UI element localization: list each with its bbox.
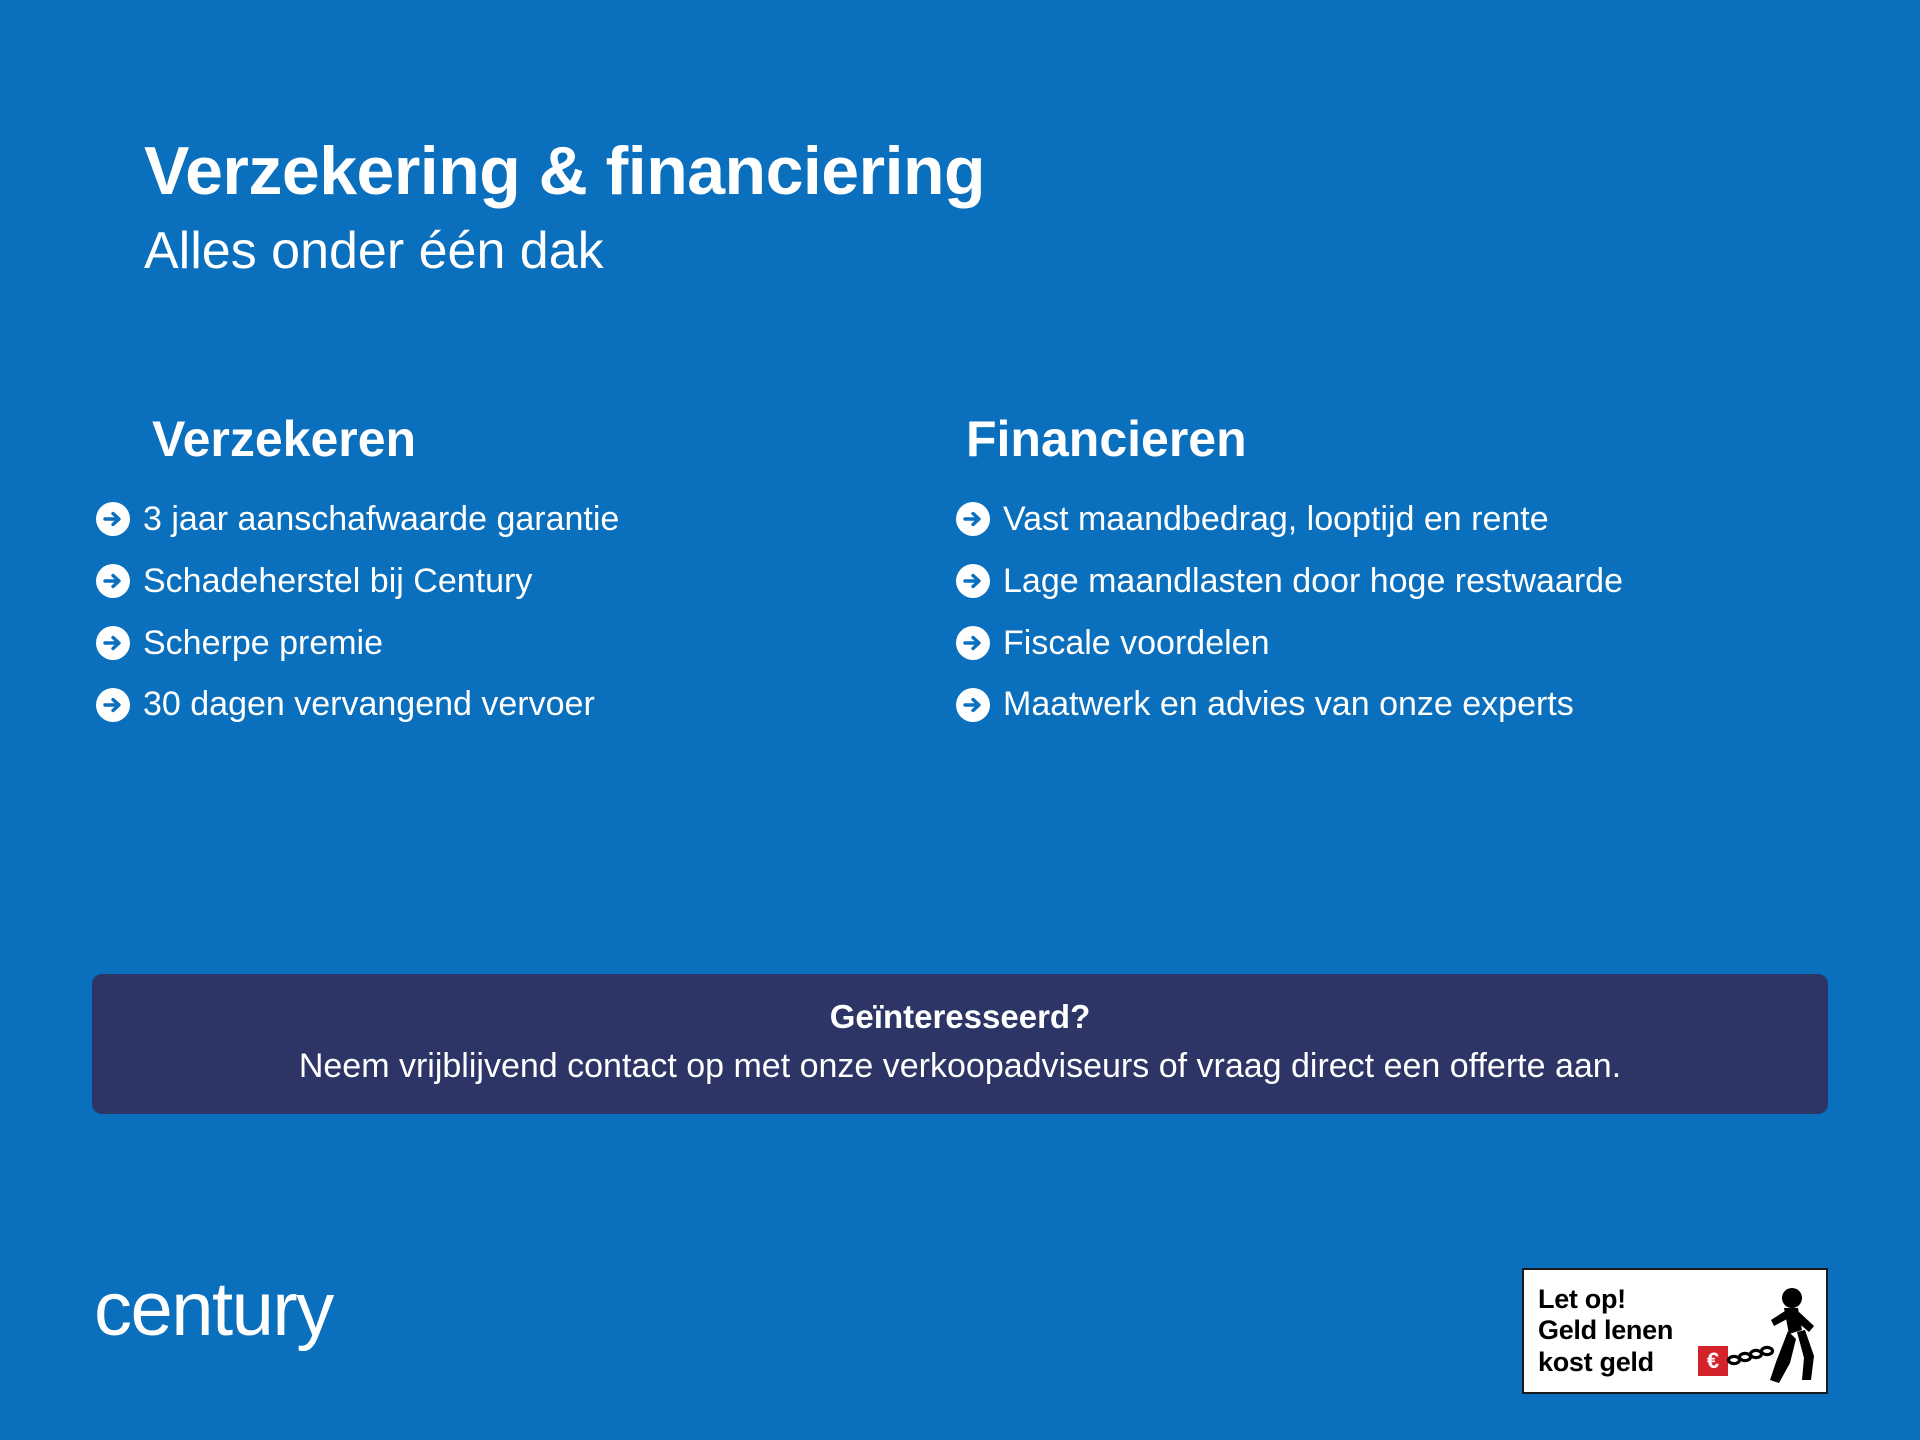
list-item: Maatwerk en advies van onze experts (956, 684, 1856, 725)
euro-symbol: € (1707, 1348, 1719, 1373)
arrow-right-circle-icon (96, 564, 130, 598)
header: Verzekering & financiering Alles onder é… (144, 136, 1644, 280)
arrow-right-circle-icon (96, 688, 130, 722)
page-title: Verzekering & financiering (144, 136, 1644, 207)
warning-badge: Let op! Geld lenen kost geld € (1522, 1268, 1828, 1394)
list-item: Schadeherstel bij Century (96, 561, 956, 602)
warning-line-2: Geld lenen (1538, 1315, 1673, 1346)
list-item-label: Vast maandbedrag, looptijd en rente (1003, 499, 1549, 540)
arrow-right-circle-icon (956, 626, 990, 660)
arrow-right-circle-icon (96, 502, 130, 536)
column-heading-financieren: Financieren (956, 412, 1856, 467)
warning-line-3: kost geld (1538, 1347, 1673, 1378)
column-verzekeren: Verzekeren 3 jaar aanschafwaarde garanti… (96, 412, 956, 746)
callout-box: Geïnteresseerd? Neem vrijblijvend contac… (92, 974, 1828, 1114)
list-item-label: 30 dagen vervangend vervoer (143, 684, 595, 725)
list-item-label: 3 jaar aanschafwaarde garantie (143, 499, 619, 540)
list-item-label: Lage maandlasten door hoge restwaarde (1003, 561, 1623, 602)
list-item: Lage maandlasten door hoge restwaarde (956, 561, 1856, 602)
list-item-label: Schadeherstel bij Century (143, 561, 532, 602)
list-item-label: Scherpe premie (143, 623, 383, 664)
arrow-right-circle-icon (956, 502, 990, 536)
warning-badge-text: Let op! Geld lenen kost geld (1538, 1284, 1673, 1378)
debt-walker-icon: € (1692, 1284, 1820, 1388)
list-item: 3 jaar aanschafwaarde garantie (96, 499, 956, 540)
list-item: Fiscale voordelen (956, 623, 1856, 664)
feature-columns: Verzekeren 3 jaar aanschafwaarde garanti… (96, 412, 1856, 746)
list-item: Vast maandbedrag, looptijd en rente (956, 499, 1856, 540)
column-financieren: Financieren Vast maandbedrag, looptijd e… (956, 412, 1856, 746)
list-item-label: Fiscale voordelen (1003, 623, 1269, 664)
list-item: Scherpe premie (96, 623, 956, 664)
warning-line-1: Let op! (1538, 1284, 1673, 1315)
arrow-right-circle-icon (96, 626, 130, 660)
callout-text: Neem vrijblijvend contact op met onze ve… (122, 1045, 1798, 1088)
callout-title: Geïnteresseerd? (122, 996, 1798, 1037)
page-subtitle: Alles onder één dak (144, 223, 1644, 279)
column-heading-verzekeren: Verzekeren (152, 412, 956, 467)
slide-root: Verzekering & financiering Alles onder é… (0, 0, 1920, 1440)
list-item: 30 dagen vervangend vervoer (96, 684, 956, 725)
arrow-right-circle-icon (956, 564, 990, 598)
century-logo: century (94, 1272, 333, 1348)
list-item-label: Maatwerk en advies van onze experts (1003, 684, 1574, 725)
bullet-list-financieren: Vast maandbedrag, looptijd en rente Lage… (956, 499, 1856, 725)
arrow-right-circle-icon (956, 688, 990, 722)
bullet-list-verzekeren: 3 jaar aanschafwaarde garantie Schadeher… (152, 499, 956, 725)
